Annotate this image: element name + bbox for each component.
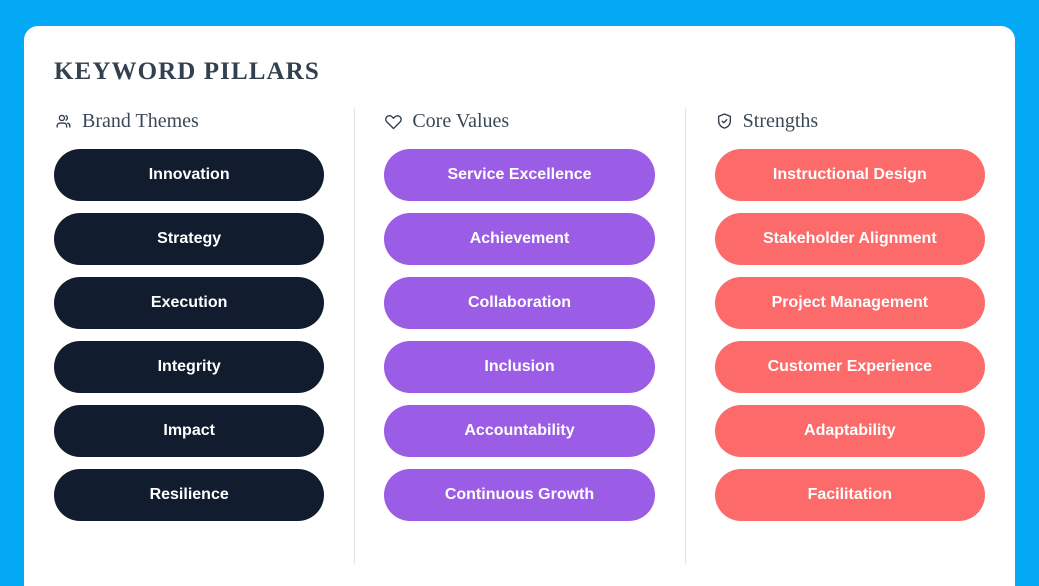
pill-collaboration[interactable]: Collaboration xyxy=(384,277,654,329)
keyword-pillars-card: KEYWORD PILLARS Brand Themes Innovation … xyxy=(24,26,1015,586)
column-core-values: Core Values Service Excellence Achieveme… xyxy=(354,108,684,578)
pill-project-management[interactable]: Project Management xyxy=(715,277,985,329)
column-title: Brand Themes xyxy=(82,111,199,131)
pillar-columns: Brand Themes Innovation Strategy Executi… xyxy=(24,108,1015,578)
pill-achievement[interactable]: Achievement xyxy=(384,213,654,265)
page-title: KEYWORD PILLARS xyxy=(54,58,1015,86)
column-title: Strengths xyxy=(743,111,819,131)
column-brand-themes: Brand Themes Innovation Strategy Executi… xyxy=(24,108,354,578)
pill-service-excellence[interactable]: Service Excellence xyxy=(384,149,654,201)
pill-impact[interactable]: Impact xyxy=(54,405,324,457)
users-icon xyxy=(54,112,73,131)
pill-continuous-growth[interactable]: Continuous Growth xyxy=(384,469,654,521)
column-title: Core Values xyxy=(412,111,509,131)
heart-icon xyxy=(384,112,403,131)
column-strengths: Strengths Instructional Design Stakehold… xyxy=(685,108,1015,578)
pill-customer-experience[interactable]: Customer Experience xyxy=(715,341,985,393)
pill-execution[interactable]: Execution xyxy=(54,277,324,329)
column-header-brand-themes: Brand Themes xyxy=(54,108,324,134)
column-header-strengths: Strengths xyxy=(715,108,985,134)
pill-stakeholder-alignment[interactable]: Stakeholder Alignment xyxy=(715,213,985,265)
pill-strategy[interactable]: Strategy xyxy=(54,213,324,265)
pill-integrity[interactable]: Integrity xyxy=(54,341,324,393)
pill-adaptability[interactable]: Adaptability xyxy=(715,405,985,457)
pill-list-brand-themes: Innovation Strategy Execution Integrity … xyxy=(54,149,324,521)
pill-list-core-values: Service Excellence Achievement Collabora… xyxy=(384,149,654,521)
column-header-core-values: Core Values xyxy=(384,108,654,134)
pill-instructional-design[interactable]: Instructional Design xyxy=(715,149,985,201)
shield-check-icon xyxy=(715,112,734,131)
pill-innovation[interactable]: Innovation xyxy=(54,149,324,201)
pill-accountability[interactable]: Accountability xyxy=(384,405,654,457)
pill-inclusion[interactable]: Inclusion xyxy=(384,341,654,393)
pill-resilience[interactable]: Resilience xyxy=(54,469,324,521)
pill-facilitation[interactable]: Facilitation xyxy=(715,469,985,521)
pill-list-strengths: Instructional Design Stakeholder Alignme… xyxy=(715,149,985,521)
